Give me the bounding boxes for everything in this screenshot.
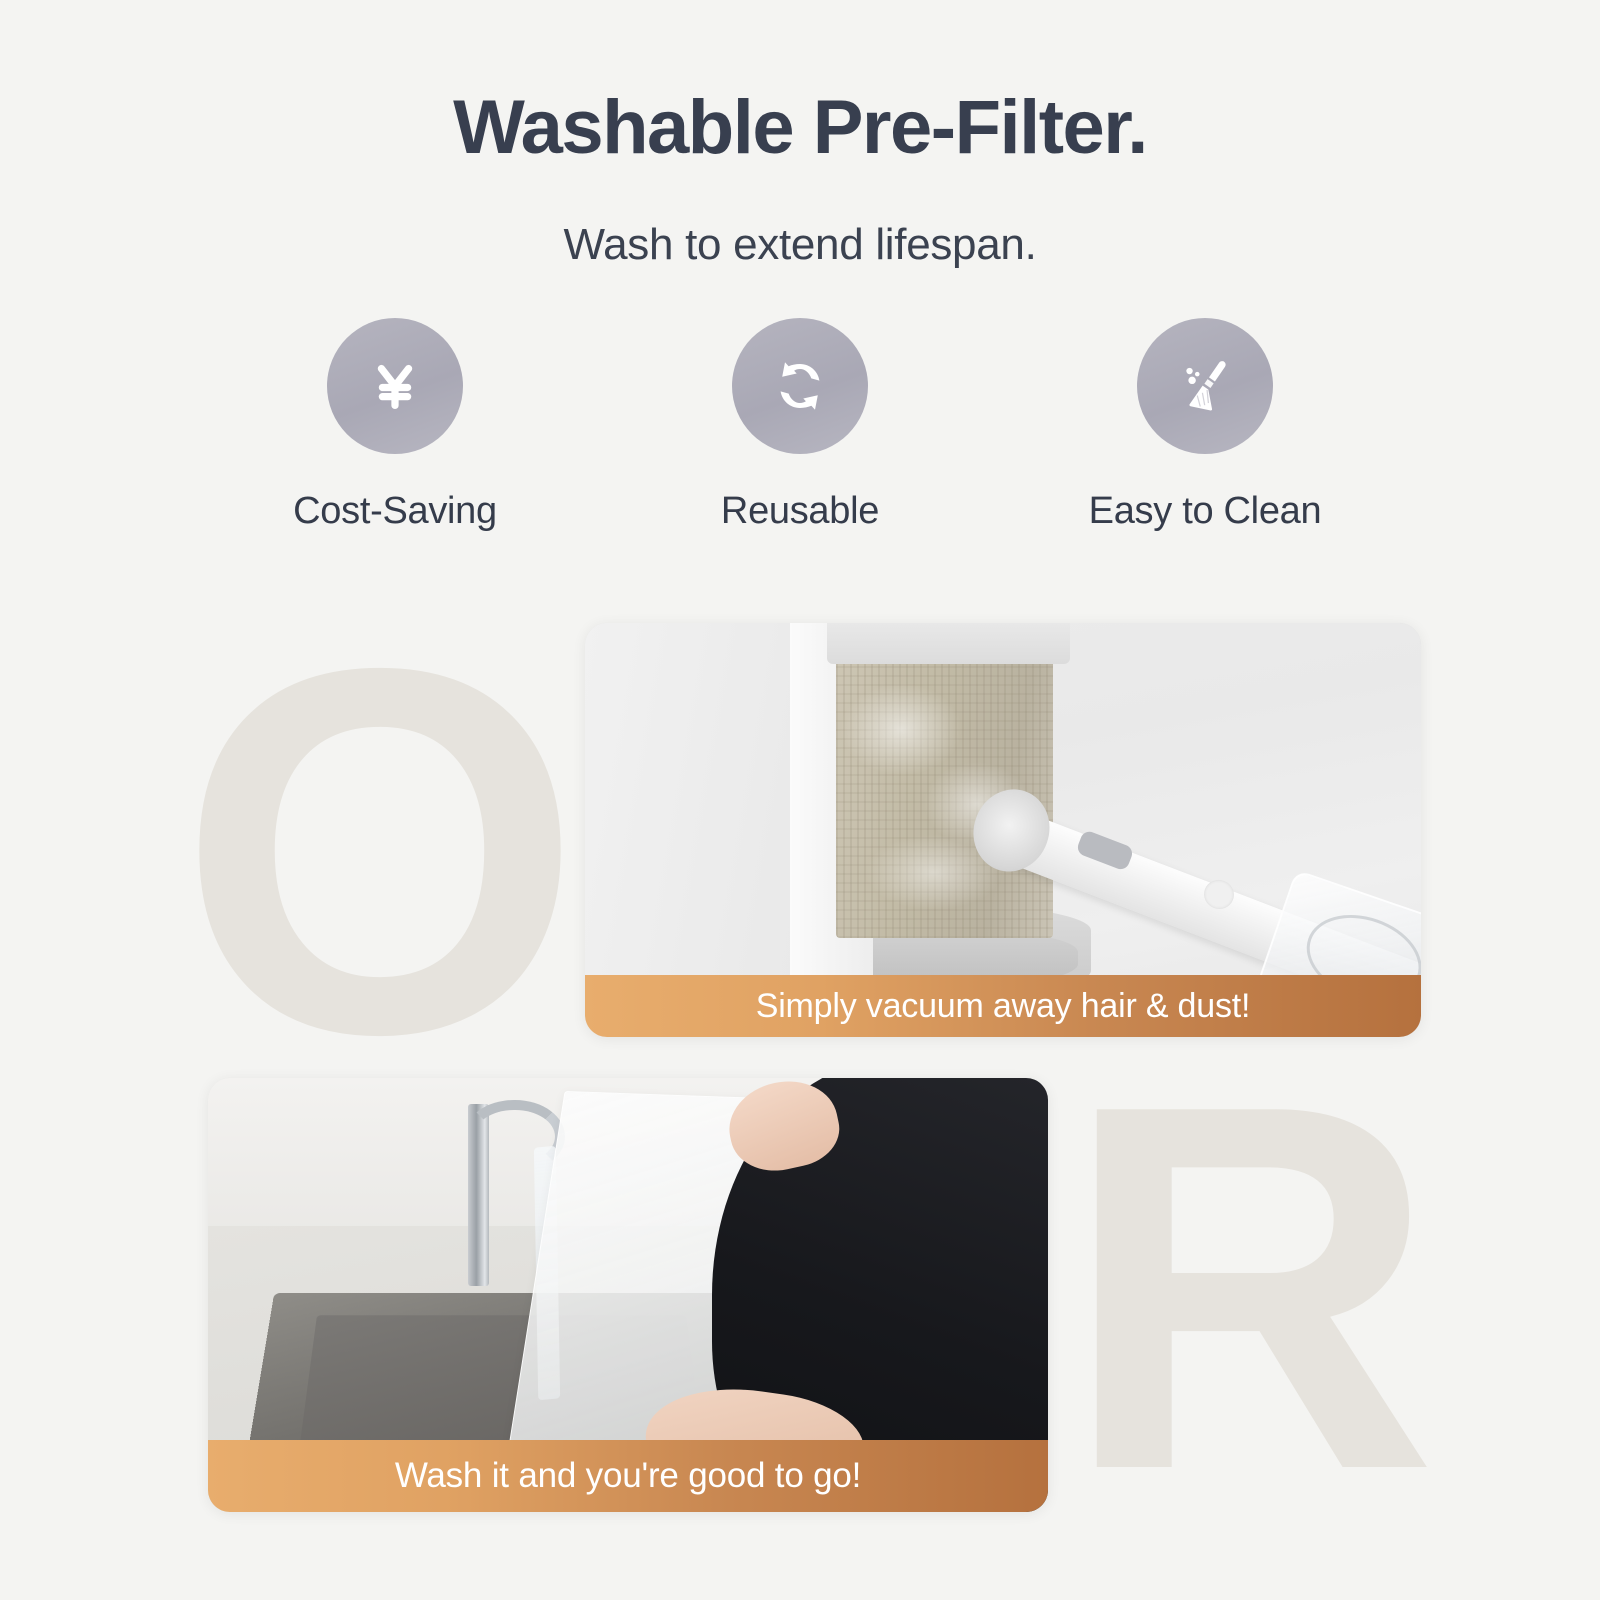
watermark-letter-r: R bbox=[1062, 1028, 1430, 1548]
vacuum-caption: Simply vacuum away hair & dust! bbox=[585, 975, 1421, 1037]
wash-card[interactable]: Wash it and you're good to go! bbox=[208, 1078, 1048, 1512]
feature-reusable: Reusable bbox=[700, 318, 900, 533]
wash-caption: Wash it and you're good to go! bbox=[208, 1440, 1048, 1512]
broom-icon bbox=[1172, 353, 1238, 419]
page-title: Washable Pre-Filter. bbox=[0, 88, 1600, 168]
feature-icon-circle bbox=[732, 318, 868, 454]
header-section: Washable Pre-Filter. Wash to extend life… bbox=[0, 0, 1600, 270]
feature-icon-circle bbox=[327, 318, 463, 454]
feature-easy-to-clean: Easy to Clean bbox=[1105, 318, 1305, 533]
watermark-letter-o: O bbox=[178, 592, 574, 1112]
feature-icon-circle bbox=[1137, 318, 1273, 454]
yen-currency-icon bbox=[364, 355, 426, 417]
page-subtitle: Wash to extend lifespan. bbox=[0, 220, 1600, 270]
feature-cost-saving: Cost-Saving bbox=[295, 318, 495, 533]
feature-list: Cost-Saving Reusable bbox=[0, 318, 1600, 533]
vacuum-card[interactable]: Simply vacuum away hair & dust! bbox=[585, 623, 1421, 1037]
feature-label: Reusable bbox=[721, 490, 879, 533]
feature-label: Easy to Clean bbox=[1089, 490, 1322, 533]
recycle-arrows-icon bbox=[768, 354, 832, 418]
feature-label: Cost-Saving bbox=[293, 490, 497, 533]
